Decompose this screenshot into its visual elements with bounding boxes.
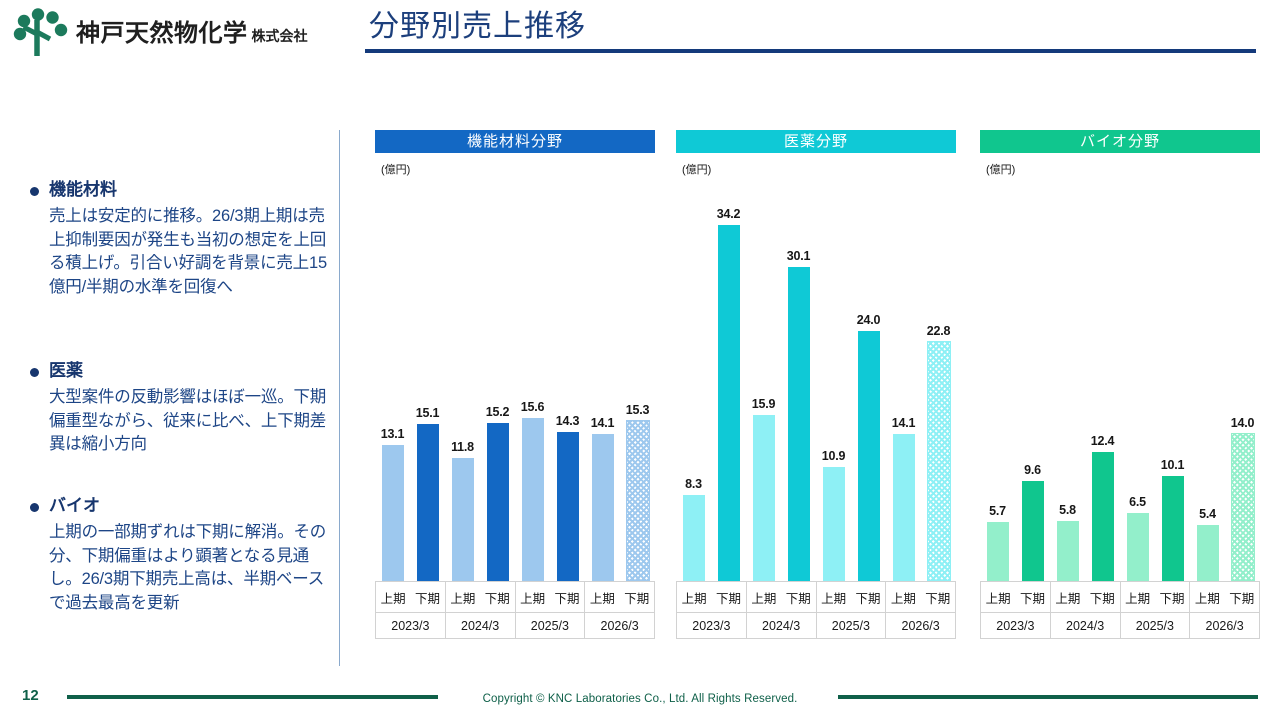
chart-title: バイオ分野 bbox=[980, 130, 1260, 153]
axis-year-label: 2025/3 bbox=[1120, 613, 1190, 638]
axis-period-label: 下期 bbox=[711, 582, 745, 612]
copyright-text: Copyright © KNC Laboratories Co., Ltd. A… bbox=[0, 693, 1280, 705]
bar[interactable]: 13.1 bbox=[382, 445, 404, 582]
chart-title: 医薬分野 bbox=[676, 130, 956, 153]
bar-slot: 11.8 bbox=[445, 185, 480, 581]
axis-period-label: 上期 bbox=[584, 582, 619, 612]
bar[interactable]: 5.8 bbox=[1057, 521, 1079, 581]
axis-period-label: 下期 bbox=[1015, 582, 1049, 612]
bar-value-label: 15.9 bbox=[752, 397, 776, 411]
bar-value-label: 5.8 bbox=[1059, 503, 1076, 517]
bar-slot: 10.9 bbox=[816, 185, 851, 581]
bar[interactable]: 24.0 bbox=[858, 331, 880, 581]
commentary-body: 売上は安定的に推移。26/3期上期は売上抑制要因が発生も当初の想定を上回る積上げ… bbox=[49, 205, 330, 299]
bar[interactable]: 30.1 bbox=[788, 267, 810, 581]
page-footer: 12 Copyright © KNC Laboratories Co., Ltd… bbox=[0, 672, 1280, 720]
bar-value-label: 24.0 bbox=[857, 313, 881, 327]
axis-year-label: 2025/3 bbox=[515, 613, 585, 638]
bar-value-label: 14.0 bbox=[1231, 416, 1255, 430]
bar[interactable]: 5.7 bbox=[987, 522, 1009, 581]
chart-unit-label: (億円) bbox=[682, 161, 956, 177]
axis-period-label: 下期 bbox=[921, 582, 956, 612]
axis-year-label: 2024/3 bbox=[746, 613, 816, 638]
bar-slot: 5.7 bbox=[980, 185, 1015, 581]
bar-value-label: 14.1 bbox=[591, 416, 615, 430]
chart-unit-label: (億円) bbox=[986, 161, 1260, 177]
page-title: 分野別売上推移 bbox=[365, 8, 1260, 46]
bar-slot: 8.3 bbox=[676, 185, 711, 581]
page-header: 神戸天然物化学 株式会社 分野別売上推移 bbox=[0, 0, 1280, 78]
bar-value-label: 9.6 bbox=[1024, 463, 1041, 477]
chart-plot-area: 5.79.65.812.46.510.15.414.0 bbox=[980, 185, 1260, 581]
axis-year-row: 2023/32024/32025/32026/3 bbox=[375, 613, 655, 639]
vertical-divider bbox=[339, 130, 340, 666]
axis-period-row: 上期下期上期下期上期下期上期下期 bbox=[375, 581, 655, 613]
bar-slot: 15.9 bbox=[746, 185, 781, 581]
axis-period-row: 上期下期上期下期上期下期上期下期 bbox=[676, 581, 956, 613]
bar[interactable]: 12.4 bbox=[1092, 452, 1114, 581]
axis-period-label: 上期 bbox=[816, 582, 851, 612]
bar[interactable]: 15.2 bbox=[487, 423, 509, 581]
bar-slot: 15.2 bbox=[480, 185, 515, 581]
commentary-body: 上期の一部期ずれは下期に解消。その分、下期偏重はより顕著となる見通し。26/3期… bbox=[49, 521, 330, 615]
bar-slot: 22.8 bbox=[921, 185, 956, 581]
bar[interactable]: 14.3 bbox=[557, 432, 579, 581]
commentary-section: バイオ上期の一部期ずれは下期に解消。その分、下期偏重はより顕著となる見通し。26… bbox=[30, 496, 330, 615]
commentary-title: 医薬 bbox=[49, 361, 83, 381]
bar-slot: 15.1 bbox=[410, 185, 445, 581]
axis-year-label: 2023/3 bbox=[375, 613, 445, 638]
bar-slot: 10.1 bbox=[1155, 185, 1190, 581]
axis-period-label: 上期 bbox=[1050, 582, 1085, 612]
axis-period-label: 上期 bbox=[1189, 582, 1224, 612]
chart-plot-area: 8.334.215.930.110.924.014.122.8 bbox=[676, 185, 956, 581]
bullet-dot-icon bbox=[30, 503, 39, 512]
chart-axis: 上期下期上期下期上期下期上期下期2023/32024/32025/32026/3 bbox=[676, 581, 956, 639]
bar-value-label: 10.1 bbox=[1161, 458, 1185, 472]
axis-period-label: 上期 bbox=[515, 582, 550, 612]
bar-value-label: 11.8 bbox=[451, 440, 474, 454]
title-underline bbox=[365, 49, 1256, 53]
commentary-section: 医薬大型案件の反動影響はほぼ一巡。下期偏重型ながら、従来に比べ、上下期差異は縮小… bbox=[30, 361, 330, 457]
bar-value-label: 15.1 bbox=[416, 406, 440, 420]
bar-slot: 9.6 bbox=[1015, 185, 1050, 581]
chart-axis: 上期下期上期下期上期下期上期下期2023/32024/32025/32026/3 bbox=[375, 581, 655, 639]
bar-slot: 13.1 bbox=[375, 185, 410, 581]
axis-period-label: 上期 bbox=[980, 582, 1015, 612]
axis-period-label: 上期 bbox=[746, 582, 781, 612]
bar[interactable]: 11.8 bbox=[452, 458, 474, 581]
commentary-section: 機能材料売上は安定的に推移。26/3期上期は売上抑制要因が発生も当初の想定を上回… bbox=[30, 180, 330, 299]
bar[interactable]: 15.1 bbox=[417, 424, 439, 581]
chart-panel: 医薬分野(億円)8.334.215.930.110.924.014.122.8上… bbox=[676, 130, 956, 670]
bar-value-label: 12.4 bbox=[1091, 434, 1115, 448]
axis-period-row: 上期下期上期下期上期下期上期下期 bbox=[980, 581, 1260, 613]
axis-period-label: 下期 bbox=[1225, 582, 1260, 612]
bar-value-label: 5.7 bbox=[989, 504, 1006, 518]
commentary-heading: 機能材料 bbox=[30, 180, 330, 200]
bar[interactable]: 34.2 bbox=[718, 225, 740, 581]
bar[interactable]: 14.1 bbox=[893, 434, 915, 581]
bar-slot: 15.6 bbox=[515, 185, 550, 581]
axis-period-label: 下期 bbox=[1155, 582, 1189, 612]
bar-value-label: 14.3 bbox=[556, 414, 580, 428]
bar-value-label: 34.2 bbox=[717, 207, 741, 221]
bar[interactable]: 14.1 bbox=[592, 434, 614, 581]
bar[interactable]: 15.3 bbox=[626, 420, 650, 581]
bar-value-label: 30.1 bbox=[787, 249, 811, 263]
axis-year-row: 2023/32024/32025/32026/3 bbox=[980, 613, 1260, 639]
bar[interactable]: 10.1 bbox=[1162, 476, 1184, 581]
bar-value-label: 15.6 bbox=[521, 400, 545, 414]
company-suffix: 株式会社 bbox=[252, 29, 308, 43]
axis-period-label: 下期 bbox=[1085, 582, 1119, 612]
chart-unit-label: (億円) bbox=[381, 161, 655, 177]
title-block: 分野別売上推移 bbox=[365, 8, 1260, 53]
axis-period-label: 上期 bbox=[885, 582, 920, 612]
bar-slot: 14.0 bbox=[1225, 185, 1260, 581]
bar-value-label: 6.5 bbox=[1129, 495, 1146, 509]
axis-period-label: 上期 bbox=[375, 582, 410, 612]
chart-title: 機能材料分野 bbox=[375, 130, 655, 153]
bar-slot: 14.1 bbox=[886, 185, 921, 581]
tree-person-logo-icon bbox=[12, 8, 74, 60]
chart-axis: 上期下期上期下期上期下期上期下期2023/32024/32025/32026/3 bbox=[980, 581, 1260, 639]
axis-period-label: 下期 bbox=[410, 582, 444, 612]
axis-period-label: 上期 bbox=[445, 582, 480, 612]
bar[interactable]: 22.8 bbox=[927, 341, 951, 581]
bullet-dot-icon bbox=[30, 368, 39, 377]
bar-value-label: 10.9 bbox=[822, 449, 846, 463]
axis-period-label: 上期 bbox=[1120, 582, 1155, 612]
axis-year-label: 2024/3 bbox=[445, 613, 515, 638]
bar-slot: 12.4 bbox=[1085, 185, 1120, 581]
bar[interactable]: 15.9 bbox=[753, 415, 775, 581]
axis-period-label: 上期 bbox=[676, 582, 711, 612]
bar-slot: 14.3 bbox=[550, 185, 585, 581]
bar[interactable]: 6.5 bbox=[1127, 513, 1149, 581]
axis-year-row: 2023/32024/32025/32026/3 bbox=[676, 613, 956, 639]
axis-year-label: 2023/3 bbox=[676, 613, 746, 638]
bar-slot: 5.4 bbox=[1190, 185, 1225, 581]
axis-period-label: 下期 bbox=[781, 582, 815, 612]
axis-year-label: 2026/3 bbox=[1189, 613, 1260, 638]
bar-value-label: 5.4 bbox=[1199, 507, 1216, 521]
bar-value-label: 8.3 bbox=[685, 477, 702, 491]
bar[interactable]: 10.9 bbox=[823, 467, 845, 581]
bar[interactable]: 8.3 bbox=[683, 495, 705, 582]
commentary-title: 機能材料 bbox=[49, 180, 117, 200]
axis-period-label: 下期 bbox=[851, 582, 885, 612]
axis-year-label: 2026/3 bbox=[584, 613, 655, 638]
bar-slot: 6.5 bbox=[1120, 185, 1155, 581]
bar[interactable]: 15.6 bbox=[522, 418, 544, 581]
axis-period-label: 下期 bbox=[480, 582, 514, 612]
commentary-panel: 機能材料売上は安定的に推移。26/3期上期は売上抑制要因が発生も当初の想定を上回… bbox=[0, 130, 339, 666]
company-name: 神戸天然物化学 bbox=[76, 22, 248, 46]
axis-year-label: 2023/3 bbox=[980, 613, 1050, 638]
axis-year-label: 2026/3 bbox=[885, 613, 956, 638]
bar-slot: 5.8 bbox=[1050, 185, 1085, 581]
bar-slot: 34.2 bbox=[711, 185, 746, 581]
bullet-dot-icon bbox=[30, 187, 39, 196]
chart-plot-area: 13.115.111.815.215.614.314.115.3 bbox=[375, 185, 655, 581]
charts-area: 機能材料分野(億円)13.115.111.815.215.614.314.115… bbox=[360, 130, 1275, 670]
bar-slot: 24.0 bbox=[851, 185, 886, 581]
axis-period-label: 下期 bbox=[620, 582, 655, 612]
bar[interactable]: 14.0 bbox=[1231, 433, 1255, 581]
bar[interactable]: 5.4 bbox=[1197, 525, 1219, 581]
chart-panel: 機能材料分野(億円)13.115.111.815.215.614.314.115… bbox=[375, 130, 655, 670]
bar-value-label: 15.2 bbox=[486, 405, 510, 419]
commentary-title: バイオ bbox=[49, 496, 100, 516]
bar-slot: 14.1 bbox=[585, 185, 620, 581]
axis-year-label: 2025/3 bbox=[816, 613, 886, 638]
chart-panel: バイオ分野(億円)5.79.65.812.46.510.15.414.0上期下期… bbox=[980, 130, 1260, 670]
bar-value-label: 15.3 bbox=[626, 403, 650, 417]
bar[interactable]: 9.6 bbox=[1022, 481, 1044, 581]
commentary-heading: 医薬 bbox=[30, 361, 330, 381]
bar-value-label: 13.1 bbox=[381, 427, 405, 441]
bar-slot: 15.3 bbox=[620, 185, 655, 581]
bar-value-label: 14.1 bbox=[892, 416, 916, 430]
axis-period-label: 下期 bbox=[550, 582, 584, 612]
commentary-heading: バイオ bbox=[30, 496, 330, 516]
bar-slot: 30.1 bbox=[781, 185, 816, 581]
commentary-body: 大型案件の反動影響はほぼ一巡。下期偏重型ながら、従来に比べ、上下期差異は縮小方向 bbox=[49, 386, 330, 456]
bar-value-label: 22.8 bbox=[927, 324, 951, 338]
company-logo: 神戸天然物化学 株式会社 bbox=[12, 6, 332, 62]
axis-year-label: 2024/3 bbox=[1050, 613, 1120, 638]
